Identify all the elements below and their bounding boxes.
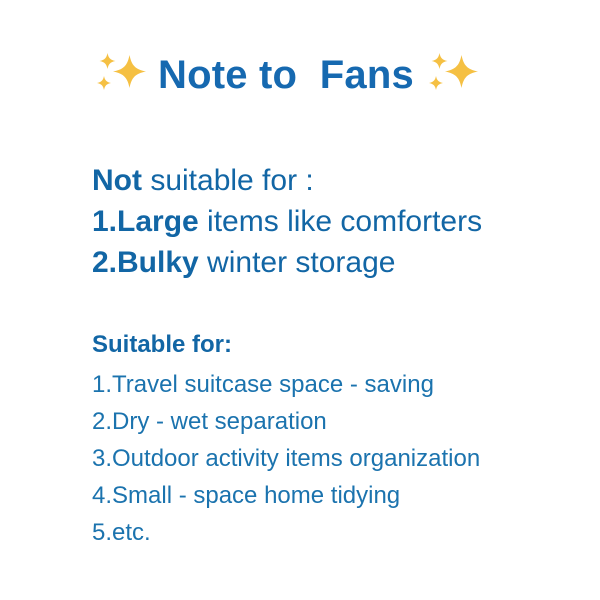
not-suitable-item-2-bold: 2.Bulky — [92, 246, 199, 279]
suitable-heading: Suitable for: — [92, 328, 562, 361]
page-title: Note to Fans — [158, 55, 414, 95]
suitable-item-2: 2.Dry - wet separation — [92, 403, 562, 440]
not-suitable-heading-rest: suitable for : — [142, 164, 314, 197]
not-suitable-item-1-bold: 1.Large — [92, 205, 199, 238]
not-suitable-section: Not suitable for : 1.Large items like co… — [92, 160, 562, 283]
sparkles-icon-right — [424, 49, 482, 101]
suitable-item-5: 5.etc. — [92, 514, 562, 551]
sparkles-icon-left — [92, 49, 150, 101]
suitable-item-3: 3.Outdoor activity items organization — [92, 440, 562, 477]
suitable-item-1: 1.Travel suitcase space - saving — [92, 366, 562, 403]
not-suitable-heading-bold: Not — [92, 164, 142, 197]
note-to-fans-poster: Note to Fans Not suitable for : 1.Large … — [0, 0, 600, 600]
not-suitable-item-2: 2.Bulky winter storage — [92, 242, 562, 283]
not-suitable-item-1: 1.Large items like comforters — [92, 201, 562, 242]
not-suitable-item-2-rest: winter storage — [199, 246, 396, 279]
not-suitable-item-1-rest: items like comforters — [199, 205, 482, 238]
suitable-section: Suitable for: 1.Travel suitcase space - … — [92, 328, 562, 551]
suitable-item-4: 4.Small - space home tidying — [92, 477, 562, 514]
poster-title-row: Note to Fans — [92, 44, 482, 106]
not-suitable-heading: Not suitable for : — [92, 160, 562, 201]
